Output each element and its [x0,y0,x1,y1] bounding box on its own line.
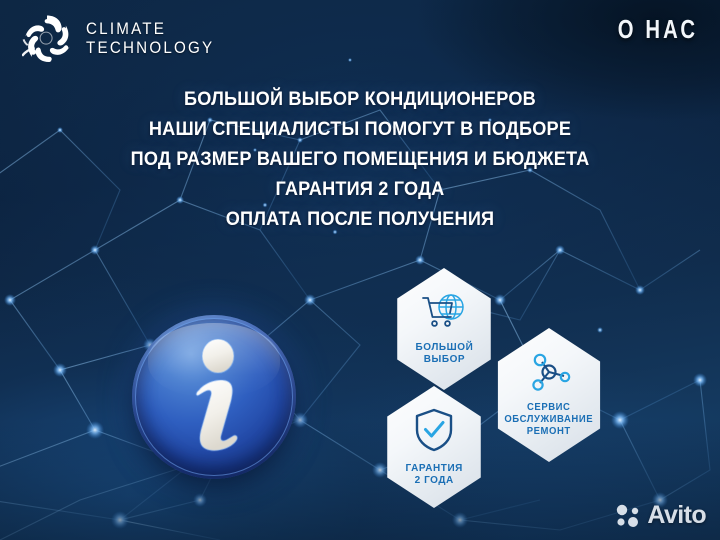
feature-hex-choice-label: БОЛЬШОЙ ВЫБОР [415,341,473,366]
brand-logo[interactable]: CLIMATE TECHNOLOGY [18,10,226,68]
avito-watermark: Avito [615,501,706,530]
feature-label-line1: БОЛЬШОЙ [415,341,473,354]
headline-line-1: БОЛЬШОЙ ВЫБОР КОНДИЦИОНЕРОВ [25,84,695,114]
headline-line-3: ПОД РАЗМЕР ВАШЕГО ПОМЕЩЕНИЯ И БЮДЖЕТА [25,144,695,174]
headline-line-2: НАШИ СПЕЦИАЛИСТЫ ПОМОГУТ В ПОДБОРЕ [25,114,695,144]
headline-line-5: ОПЛАТА ПОСЛЕ ПОЛУЧЕНИЯ [25,204,695,234]
bottom-shading [0,420,720,540]
feature-label-line2: ВЫБОР [415,353,473,366]
avito-wordmark: Avito [647,501,706,530]
brand-name: CLIMATE TECHNOLOGY [86,20,214,58]
feature-label-line2: ОБСЛУЖИВАНИЕ [505,414,594,426]
fan-swirl-logo-icon [18,10,76,68]
network-background-graphic [0,0,720,540]
feature-hex-service[interactable]: СЕРВИС ОБСЛУЖИВАНИЕ РЕМОНТ [490,328,608,462]
avito-dots-icon [615,504,641,528]
feature-label-line3: РЕМОНТ [505,426,594,438]
network-nodes-icon [526,352,572,397]
headline-line-4: ГАРАНТИЯ 2 ГОДА [25,174,695,204]
feature-label-line1: СЕРВИС [505,402,594,414]
feature-label-line2: 2 ГОДА [405,474,462,487]
page-title: О НАС [618,14,698,45]
info-badge [132,315,296,479]
shopping-cart-globe-icon [420,293,468,336]
feature-hex-service-label: СЕРВИС ОБСЛУЖИВАНИЕ РЕМОНТ [505,402,594,438]
poster-canvas: CLIMATE TECHNOLOGY О НАС БОЛЬШОЙ ВЫБОР К… [0,0,720,540]
shield-check-icon [414,408,454,457]
feature-label-line1: ГАРАНТИЯ [405,462,462,475]
feature-hex-warranty[interactable]: ГАРАНТИЯ 2 ГОДА [380,386,488,508]
information-i-icon [132,315,296,479]
feature-hex-choice[interactable]: БОЛЬШОЙ ВЫБОР [390,268,498,390]
feature-hex-warranty-label: ГАРАНТИЯ 2 ГОДА [405,462,462,487]
headline-block: БОЛЬШОЙ ВЫБОР КОНДИЦИОНЕРОВ НАШИ СПЕЦИАЛ… [0,84,720,234]
brand-name-line2: TECHNOLOGY [86,39,214,58]
brand-name-line1: CLIMATE [86,20,214,39]
